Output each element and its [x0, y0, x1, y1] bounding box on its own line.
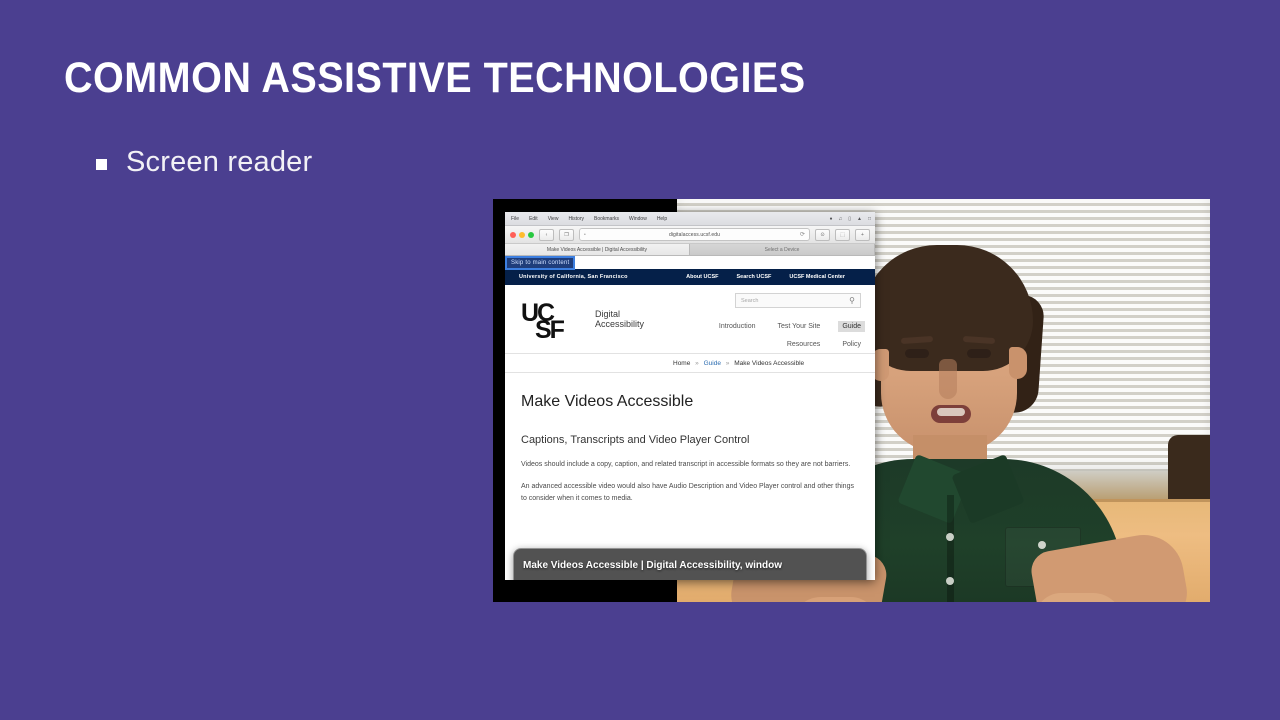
pocket-button	[1038, 541, 1046, 549]
menu-item-view[interactable]: View	[548, 216, 559, 222]
address-bar[interactable]: • digitalaccess.ucsf.edu ⟳	[579, 228, 810, 241]
bullet-list-item: Screen reader	[96, 146, 312, 179]
site-name[interactable]: Digital Accessibility	[595, 309, 644, 330]
menu-item-bookmarks[interactable]: Bookmarks	[594, 216, 619, 222]
article-body: Make Videos Accessible Captions, Transcr…	[505, 373, 875, 505]
back-button[interactable]: ‹	[539, 229, 554, 241]
nose	[939, 359, 957, 399]
maximize-icon[interactable]	[528, 232, 534, 238]
article-paragraph-2: An advanced accessible video would also …	[521, 481, 859, 505]
breadcrumb-trail[interactable]: Home » Guide » Make Videos Accessible	[673, 360, 804, 367]
site-name-line-2: Accessibility	[595, 319, 644, 329]
sidebar-icon[interactable]: ❐	[559, 229, 574, 241]
minimize-icon[interactable]	[519, 232, 525, 238]
search-placeholder: Search	[736, 298, 758, 304]
eye-right	[967, 349, 991, 358]
nav-item-introduction[interactable]: Introduction	[715, 321, 760, 332]
reload-icon[interactable]: ⟳	[800, 231, 805, 238]
square-bullet-icon	[96, 159, 107, 170]
menu-item-help[interactable]: Help	[657, 216, 667, 222]
clock-display[interactable]: □	[868, 216, 871, 222]
tab-select-a-device[interactable]: Select a Device	[690, 244, 875, 255]
site-name-line-1: Digital	[595, 309, 644, 319]
show-tabs-icon[interactable]: ⬚	[835, 229, 850, 241]
eye-left	[905, 349, 929, 358]
nav-item-resources[interactable]: Resources	[783, 339, 824, 350]
downloads-icon[interactable]: ⊙	[815, 229, 830, 241]
close-icon[interactable]	[510, 232, 516, 238]
shirt-button-top	[946, 533, 954, 541]
shirt-placket	[947, 495, 954, 602]
volume-icon[interactable]: ♫	[839, 216, 843, 222]
new-tab-button[interactable]: +	[855, 229, 870, 241]
secondary-nav[interactable]: Resources Policy	[783, 339, 865, 350]
search-input[interactable]: Search ⚲	[735, 293, 861, 308]
global-nav-links[interactable]: About UCSF Search UCSF UCSF Medical Cent…	[686, 274, 861, 280]
menu-bar-status-area[interactable]: ● ♫ ▯ ▲ □	[829, 216, 871, 222]
ucsf-logo-lower: SF	[535, 318, 563, 343]
link-search-ucsf[interactable]: Search UCSF	[737, 274, 772, 280]
teeth	[937, 408, 965, 416]
article-subheading: Captions, Transcripts and Video Player C…	[521, 433, 859, 449]
breadcrumb-separator-1: »	[695, 360, 699, 367]
breadcrumb-current: Make Videos Accessible	[734, 360, 804, 367]
wifi-icon[interactable]: ▲	[857, 216, 862, 222]
battery-icon[interactable]: ▯	[848, 216, 851, 222]
breadcrumb: Home » Guide » Make Videos Accessible	[505, 353, 875, 373]
skip-to-main-content-link[interactable]: Skip to main content	[505, 256, 575, 270]
link-about-ucsf[interactable]: About UCSF	[686, 274, 718, 280]
voiceover-caption-text: Make Videos Accessible | Digital Accessi…	[523, 560, 782, 571]
site-header: UC SF Digital Accessibility Search ⚲ Int…	[505, 285, 875, 353]
ear-right	[1009, 347, 1027, 379]
address-bar-url: digitalaccess.ucsf.edu	[669, 232, 720, 238]
menu-item-file[interactable]: File	[511, 216, 519, 222]
video-player-frame[interactable]: File Edit View History Bookmarks Window …	[493, 199, 1210, 602]
nav-item-guide[interactable]: Guide	[838, 321, 865, 332]
ucsf-global-bar: University of California, San Francisco …	[505, 269, 875, 285]
bluetooth-icon[interactable]: ●	[829, 216, 832, 222]
breadcrumb-home[interactable]: Home	[673, 360, 690, 367]
voiceover-caption-panel: Make Videos Accessible | Digital Accessi…	[513, 548, 867, 580]
link-ucsf-medical-center[interactable]: UCSF Medical Center	[789, 274, 845, 280]
ucsf-logo[interactable]: UC SF	[521, 301, 563, 343]
university-name: University of California, San Francisco	[519, 274, 628, 280]
nav-item-policy[interactable]: Policy	[838, 339, 865, 350]
breadcrumb-guide[interactable]: Guide	[704, 360, 721, 367]
page-title: COMMON ASSISTIVE TECHNOLOGIES	[64, 54, 806, 103]
shirt-button-bottom	[946, 577, 954, 585]
menu-item-edit[interactable]: Edit	[529, 216, 538, 222]
article-heading: Make Videos Accessible	[521, 393, 859, 411]
browser-toolbar[interactable]: ‹ ❐ • digitalaccess.ucsf.edu ⟳ ⊙ ⬚ +	[505, 226, 875, 244]
article-paragraph-1: Videos should include a copy, caption, a…	[521, 459, 859, 471]
breadcrumb-separator-2: »	[726, 360, 730, 367]
window-traffic-lights[interactable]	[510, 232, 534, 238]
browser-tab-bar[interactable]: Make Videos Accessible | Digital Accessi…	[505, 244, 875, 256]
nav-item-test-your-site[interactable]: Test Your Site	[774, 321, 825, 332]
menu-item-history[interactable]: History	[568, 216, 584, 222]
lock-icon: •	[584, 232, 586, 238]
search-icon[interactable]: ⚲	[849, 297, 860, 305]
mac-menu-bar[interactable]: File Edit View History Bookmarks Window …	[505, 212, 875, 226]
browser-window[interactable]: File Edit View History Bookmarks Window …	[505, 212, 875, 580]
web-page-content: Skip to main content University of Calif…	[505, 256, 875, 580]
tab-make-videos-accessible[interactable]: Make Videos Accessible | Digital Accessi…	[505, 244, 690, 255]
menu-item-window[interactable]: Window	[629, 216, 647, 222]
bullet-label: Screen reader	[126, 146, 312, 179]
primary-nav[interactable]: Introduction Test Your Site Guide	[661, 321, 865, 332]
